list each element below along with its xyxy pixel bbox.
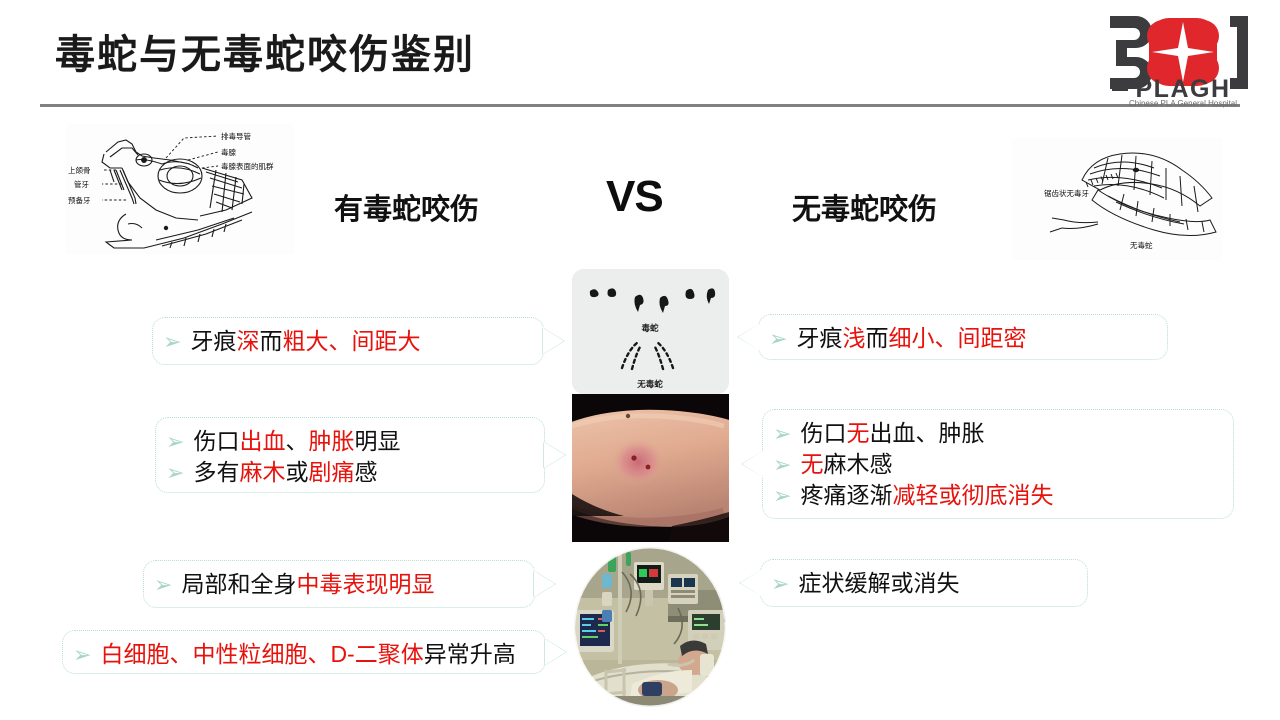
wound-photo-illustration (572, 394, 729, 542)
label-gland-muscles: 毒腺表面的肌群 (221, 161, 274, 171)
callout-line: ➢局部和全身中毒表现明显 (154, 569, 520, 600)
bite-mark-diagram: 毒蛇 无毒蛇 (572, 269, 729, 394)
callout-text: 无麻木感 (800, 449, 892, 480)
bullet-arrow-icon: ➢ (769, 328, 787, 350)
slide-root: 毒蛇与无毒蛇咬伤鉴别 PLAGH Chinese PLA General Hos… (0, 0, 1280, 720)
non-venomous-snake-drawing: 锯齿状无毒牙 无毒蛇 (1012, 138, 1222, 260)
plagh-logo: PLAGH Chinese PLA General Hospital (1098, 4, 1268, 108)
callout-body: ➢牙痕浅而细小、间距密 (769, 323, 1153, 354)
callout-text: 牙痕深而粗大、间距大 (190, 326, 420, 357)
callout-text: 多有麻木或剧痛感 (193, 457, 377, 488)
callout-tail (534, 571, 555, 597)
callout-text: 白细胞、中性粒细胞、D-二聚体异常升高 (100, 639, 515, 670)
icu-photo-illustration (572, 544, 729, 710)
callout-venomous-wound-symptoms[interactable]: ➢伤口出血、肿胀明显➢多有麻木或剧痛感 (155, 417, 545, 493)
label-venomous-bite: 毒蛇 (641, 323, 659, 333)
callout-line: ➢牙痕深而粗大、间距大 (163, 326, 529, 357)
svg-text:Chinese PLA General Hospital: Chinese PLA General Hospital (1129, 99, 1237, 108)
column-header-non-venomous: 无毒蛇咬伤 (792, 186, 937, 228)
bullet-arrow-icon: ➢ (154, 574, 172, 596)
callout-venomous-lab-findings[interactable]: ➢白细胞、中性粒细胞、D-二聚体异常升高 (62, 630, 546, 674)
vs-label: VS (606, 172, 663, 222)
bite-mark-comparison-image: 毒蛇 无毒蛇 (572, 269, 729, 394)
callout-line: ➢多有麻木或剧痛感 (166, 457, 530, 488)
bullet-arrow-icon: ➢ (773, 454, 791, 476)
venomous-snake-head-anatomy-figure: 排毒导管 毒腺 毒腺表面的肌群 上颌骨 管牙 预备牙 (66, 124, 294, 254)
label-non-venomous-bite: 无毒蛇 (636, 379, 663, 389)
bullet-arrow-icon: ➢ (73, 644, 91, 666)
bullet-arrow-icon: ➢ (166, 462, 184, 484)
callout-line: ➢牙痕浅而细小、间距密 (769, 323, 1153, 354)
label-reserve-fang: 预备牙 (68, 195, 91, 205)
bullet-arrow-icon: ➢ (773, 423, 791, 445)
snake-head-drawing: 排毒导管 毒腺 毒腺表面的肌群 上颌骨 管牙 预备牙 (66, 124, 294, 254)
bullet-arrow-icon: ➢ (773, 485, 791, 507)
bullet-arrow-icon: ➢ (166, 431, 184, 453)
callout-text: 症状缓解或消失 (798, 568, 959, 599)
callout-body: ➢局部和全身中毒表现明显 (154, 569, 520, 600)
callout-line: ➢症状缓解或消失 (771, 568, 1073, 599)
callout-line: ➢伤口出血、肿胀明显 (166, 426, 530, 457)
callout-line: ➢伤口无出血、肿胀 (773, 418, 1219, 449)
icu-patient-photo (572, 544, 729, 710)
logo-artwork: PLAGH Chinese PLA General Hospital (1098, 4, 1268, 108)
label-tube-fang: 管牙 (74, 179, 89, 189)
callout-body: ➢牙痕深而粗大、间距大 (163, 326, 529, 357)
callout-tail (740, 570, 761, 596)
callout-tail (543, 328, 564, 354)
callout-tail (544, 442, 565, 468)
callout-body: ➢伤口出血、肿胀明显➢多有麻木或剧痛感 (166, 426, 530, 488)
callout-body: ➢白细胞、中性粒细胞、D-二聚体异常升高 (73, 639, 531, 670)
column-header-venomous: 有毒蛇咬伤 (334, 186, 479, 228)
callout-tail (738, 324, 759, 350)
callout-line: ➢无麻木感 (773, 449, 1219, 480)
label-venom-gland: 毒腺 (221, 147, 236, 157)
callout-venomous-fang-marks[interactable]: ➢牙痕深而粗大、间距大 (152, 317, 544, 365)
non-venomous-snake-figure: 锯齿状无毒牙 无毒蛇 (1012, 138, 1222, 260)
bullet-arrow-icon: ➢ (163, 331, 181, 353)
bullet-arrow-icon: ➢ (771, 573, 789, 595)
callout-text: 局部和全身中毒表现明显 (181, 569, 434, 600)
callout-non-venomous-recovery[interactable]: ➢症状缓解或消失 (760, 559, 1088, 607)
callout-non-venomous-wound-symptoms[interactable]: ➢伤口无出血、肿胀➢无麻木感➢疼痛逐渐减轻或彻底消失 (762, 409, 1234, 519)
callout-text: 伤口无出血、肿胀 (800, 418, 984, 449)
callout-line: ➢白细胞、中性粒细胞、D-二聚体异常升高 (73, 639, 531, 670)
callout-line: ➢疼痛逐渐减轻或彻底消失 (773, 480, 1219, 511)
callout-body: ➢伤口无出血、肿胀➢无麻木感➢疼痛逐渐减轻或彻底消失 (773, 418, 1219, 511)
snakebite-wound-photo (572, 394, 729, 542)
callout-text: 牙痕浅而细小、间距密 (796, 323, 1026, 354)
callout-body: ➢症状缓解或消失 (771, 568, 1073, 599)
label-venom-duct: 排毒导管 (221, 131, 251, 141)
callout-tail (742, 451, 763, 477)
callout-text: 疼痛逐渐减轻或彻底消失 (800, 480, 1053, 511)
callout-tail (545, 639, 566, 665)
callout-text: 伤口出血、肿胀明显 (193, 426, 400, 457)
label-saw-tooth-nonvenom-fang: 锯齿状无毒牙 (1044, 188, 1089, 198)
callout-venomous-systemic-toxicity[interactable]: ➢局部和全身中毒表现明显 (143, 560, 535, 608)
label-non-venomous-snake: 无毒蛇 (1130, 240, 1153, 250)
page-title: 毒蛇与无毒蛇咬伤鉴别 (55, 22, 475, 80)
label-maxilla: 上颌骨 (68, 165, 91, 175)
callout-non-venomous-fang-marks[interactable]: ➢牙痕浅而细小、间距密 (758, 314, 1168, 360)
header-divider (40, 104, 1240, 107)
